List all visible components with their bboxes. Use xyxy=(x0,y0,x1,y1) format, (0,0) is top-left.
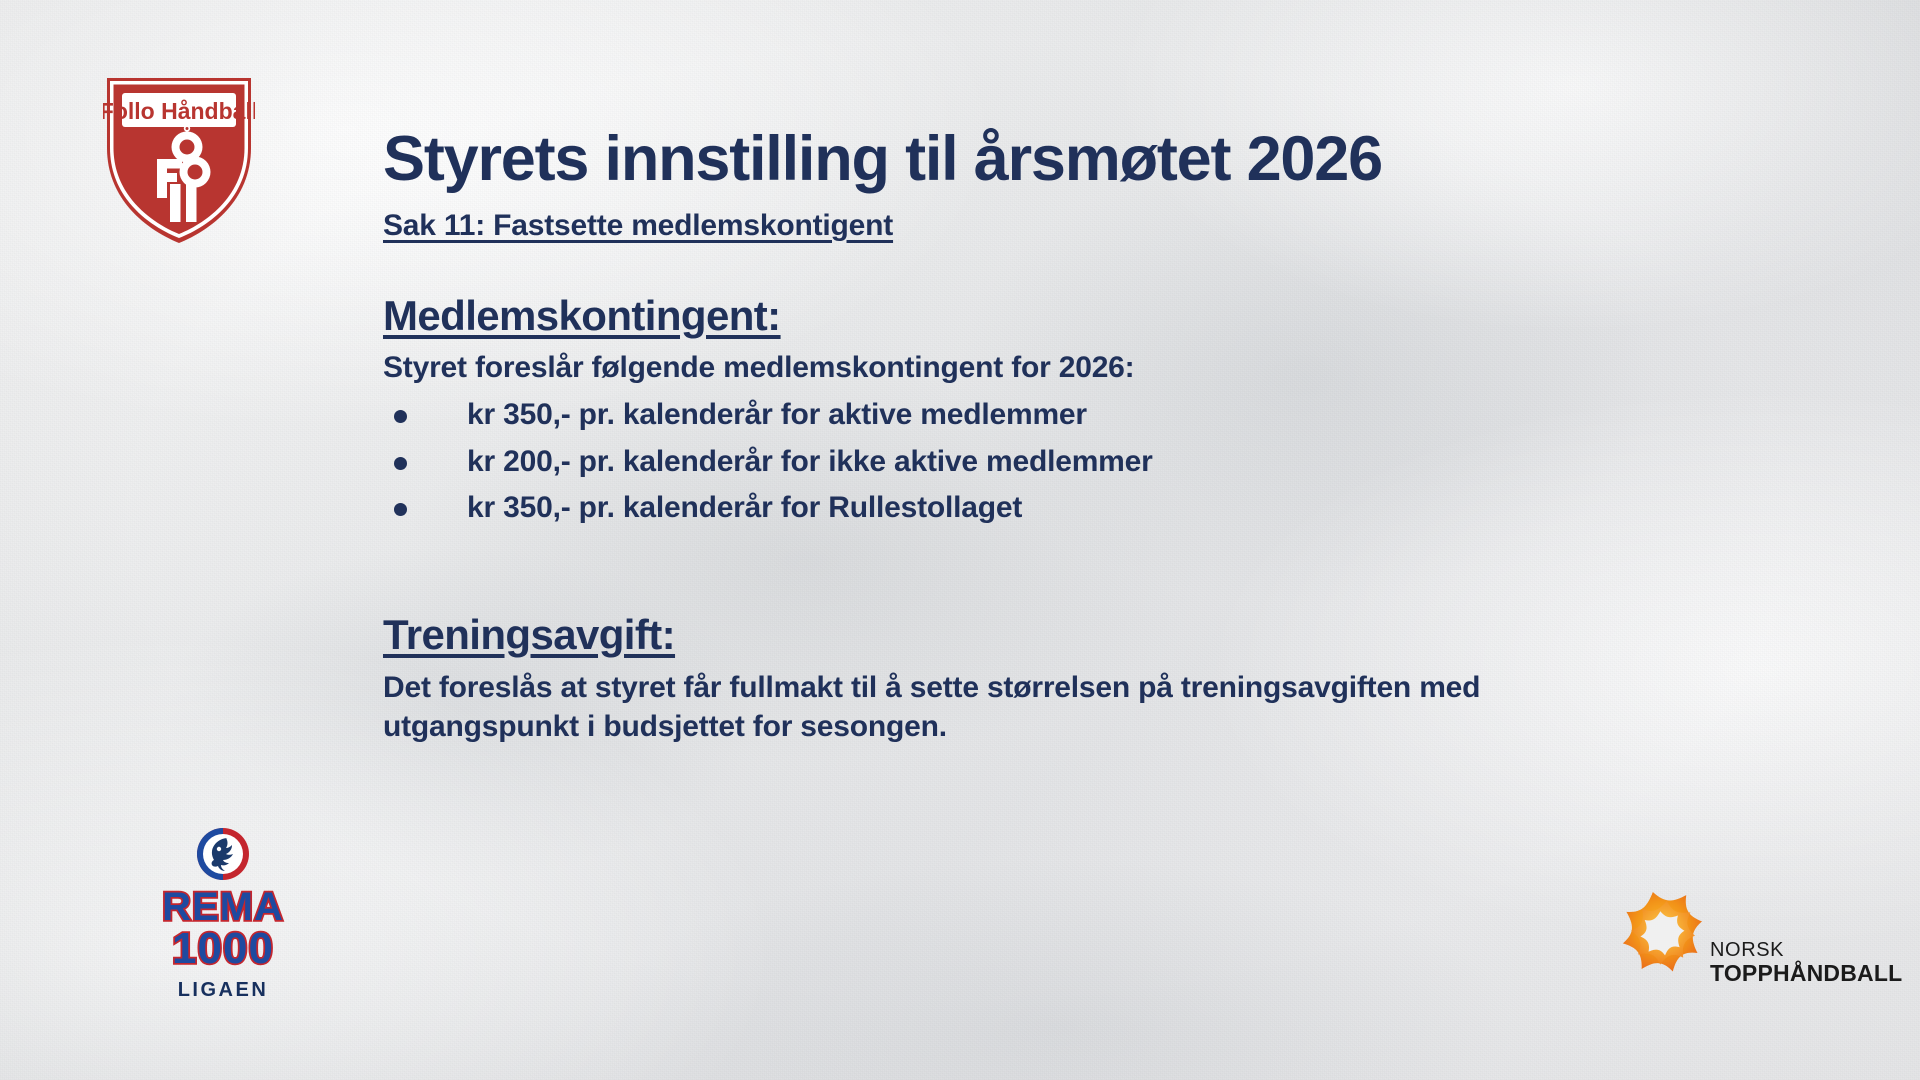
fee-prefix: kr xyxy=(467,491,503,524)
fee-rest: ,- pr. kalenderår for ikke aktive medlem… xyxy=(553,445,1153,478)
page-subtitle: Sak 11: Fastsette medlemskontigent xyxy=(383,209,1843,243)
fee-amount: 200 xyxy=(503,445,552,478)
rema-1000-ligaen-logo: REMA 1000 LIGAEN xyxy=(138,826,308,1002)
section-treningsavgift: Treningsavgift: Det foreslås at styret f… xyxy=(383,611,1843,747)
page-title: Styrets innstilling til årsmøtet 2026 xyxy=(383,128,1843,191)
norsk-topphandball-wordmark: NORSK TOPPHÅNDBALL xyxy=(1710,940,1902,985)
fee-rest: ,- pr. kalenderår for aktive medlemmer xyxy=(553,398,1087,431)
rema-wordmark: REMA xyxy=(138,888,308,926)
section-intro-medlemskontingent: Styret foreslår følgende medlemskontinge… xyxy=(383,349,1843,387)
section-heading-treningsavgift: Treningsavgift: xyxy=(383,611,1843,659)
section-medlemskontingent: Medlemskontingent: Styret foreslår følge… xyxy=(383,292,1843,527)
section-paragraph-treningsavgift: Det foreslås at styret får fullmakt til … xyxy=(383,668,1593,747)
slide-content: Styrets innstilling til årsmøtet 2026 Sa… xyxy=(383,128,1843,747)
rema-number: 1000 xyxy=(138,927,308,971)
fee-prefix: kr xyxy=(467,398,503,431)
fee-rest: ,- pr. kalenderår for Rullestollaget xyxy=(553,491,1023,524)
list-item: kr 200,- pr. kalenderår for ikke aktive … xyxy=(383,443,1843,481)
fee-amount: 350 xyxy=(503,398,552,431)
star-flower-icon xyxy=(1615,888,1709,982)
fee-list: kr 350,- pr. kalenderår for aktive medle… xyxy=(383,396,1843,527)
norsk-topphandball-logo: NORSK TOPPHÅNDBALL xyxy=(1615,888,1885,1006)
lion-icon xyxy=(195,826,251,882)
wordmark-line1: NORSK xyxy=(1710,940,1902,960)
section-heading-medlemskontingent: Medlemskontingent: xyxy=(383,292,1843,340)
list-item: kr 350,- pr. kalenderår for aktive medle… xyxy=(383,396,1843,434)
list-item: kr 350,- pr. kalenderår for Rullestollag… xyxy=(383,489,1843,527)
rema-league-label: LIGAEN xyxy=(138,979,308,1002)
fee-amount: 350 xyxy=(503,491,552,524)
follo-handball-crest-logo: Follo Håndball xyxy=(103,72,255,249)
wordmark-line2: TOPPHÅNDBALL xyxy=(1710,962,1902,985)
crest-club-name: Follo Håndball xyxy=(103,98,255,124)
fee-prefix: kr xyxy=(467,445,503,478)
